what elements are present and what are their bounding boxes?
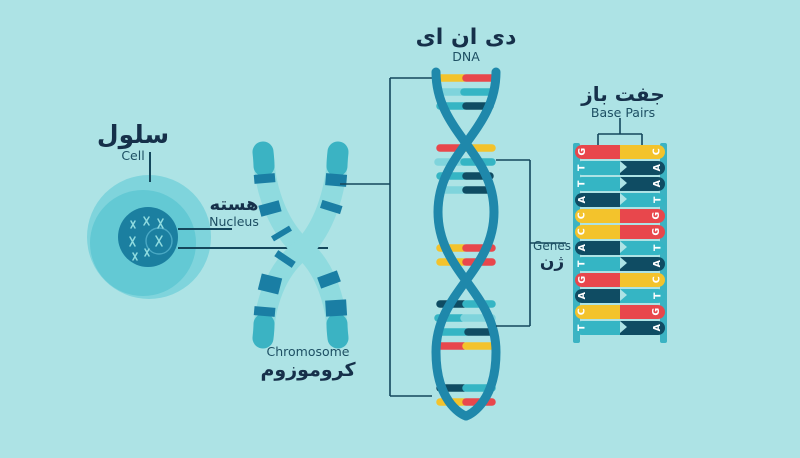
base-letter-right: A <box>653 324 663 331</box>
base-pair-rung: CG <box>575 305 665 319</box>
base-left: T <box>575 177 620 191</box>
base-left: T <box>575 257 620 271</box>
base-left: G <box>575 145 620 159</box>
base-letter-right: G <box>652 308 662 316</box>
base-letter-right: G <box>652 212 662 220</box>
base-pair-rung: CG <box>575 209 665 223</box>
base-pair-rung: GC <box>575 273 665 287</box>
base-letter-left: T <box>577 261 587 267</box>
base-right: G <box>620 305 665 319</box>
base-letter-left: A <box>578 196 588 203</box>
base-pair-rung: TA <box>575 177 665 191</box>
base-right: G <box>620 209 665 223</box>
base-right: A <box>620 161 665 175</box>
base-letter-left: A <box>578 292 588 299</box>
base-right: G <box>620 225 665 239</box>
base-left: A <box>575 193 620 207</box>
base-pair-ladder: GCTATAATCGCGATTAGCATCGTA <box>573 143 667 343</box>
base-letter-right: C <box>653 276 663 283</box>
base-right: A <box>620 257 665 271</box>
base-letter-right: T <box>653 245 663 251</box>
base-left: T <box>575 321 620 335</box>
base-left: C <box>575 305 620 319</box>
base-pair-rung: AT <box>575 193 665 207</box>
base-letter-right: A <box>653 260 663 267</box>
base-letter-left: T <box>577 165 587 171</box>
base-letter-right: T <box>653 293 663 299</box>
base-letter-left: T <box>577 181 587 187</box>
base-letter-right: G <box>652 228 662 236</box>
base-pair-rung: TA <box>575 257 665 271</box>
base-letter-right: T <box>653 197 663 203</box>
base-pair-rung: TA <box>575 161 665 175</box>
diagram-canvas: سلول Cell هسته Nucleus <box>0 0 800 458</box>
base-pairs-bracket <box>0 0 800 458</box>
base-letter-left: G <box>578 276 588 284</box>
base-letter-left: C <box>578 308 588 315</box>
base-left: A <box>575 241 620 255</box>
base-letter-right: C <box>653 148 663 155</box>
base-left: T <box>575 161 620 175</box>
base-pair-rung: AT <box>575 289 665 303</box>
base-right: A <box>620 321 665 335</box>
base-left: G <box>575 273 620 287</box>
base-pair-rung: TA <box>575 321 665 335</box>
base-right: A <box>620 177 665 191</box>
base-pair-rung: GC <box>575 145 665 159</box>
base-pair-rung: AT <box>575 241 665 255</box>
base-pair-rung: CG <box>575 225 665 239</box>
base-letter-left: A <box>578 244 588 251</box>
base-left: C <box>575 209 620 223</box>
base-left: C <box>575 225 620 239</box>
base-right: C <box>620 273 665 287</box>
base-letter-left: T <box>577 325 587 331</box>
base-letter-left: G <box>578 148 588 156</box>
base-right: T <box>620 241 665 255</box>
base-right: T <box>620 289 665 303</box>
base-right: C <box>620 145 665 159</box>
base-right: T <box>620 193 665 207</box>
base-letter-left: C <box>578 212 588 219</box>
base-left: A <box>575 289 620 303</box>
base-letter-left: C <box>578 228 588 235</box>
base-letter-right: A <box>653 164 663 171</box>
base-letter-right: A <box>653 180 663 187</box>
